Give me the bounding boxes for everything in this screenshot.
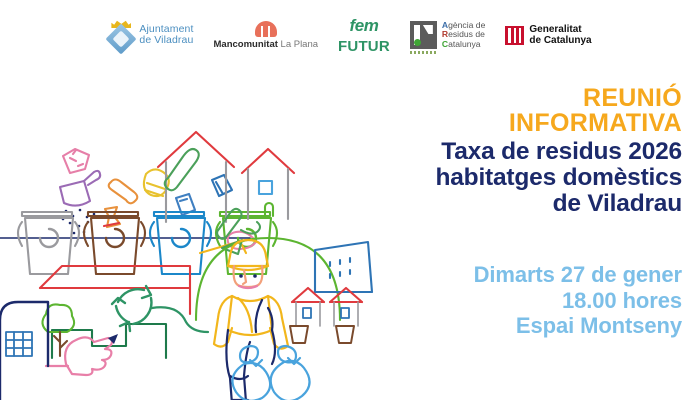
logo-bar: Ajuntament de Viladrau Mancomunitat La P… [0,0,700,70]
arc-line3: atalunya [448,39,481,49]
street-bins-brown [290,326,354,343]
logo-arc-text: Agència de Residus de Catalunya [442,21,486,49]
bin-brown [84,212,145,274]
house-row-windows [303,308,349,318]
fem-futur-line1: fem [349,17,378,34]
poster: Ajuntament de Viladrau Mancomunitat La P… [0,0,700,400]
house-small [242,149,294,219]
waste-item-bone [109,180,138,204]
small-blue-block [6,332,32,356]
illustration-waste-collection [0,70,420,400]
crown-shield-icon [108,20,134,50]
connector-line-green [152,307,208,332]
house-row-red [292,288,362,302]
logo-mancomunitat-la-plana: Mancomunitat La Plana [214,21,319,50]
waste-item-dustpan [60,171,100,206]
logo-generalitat-de-catalunya: Generalitat de Catalunya [505,24,591,46]
arch-mark-icon [255,21,277,37]
logo-fem-futur: fem FUTUR [338,17,390,54]
bin-blue [150,212,211,274]
bin-grey [18,212,79,274]
waste-item-carton [212,175,232,196]
senyera-bars-icon [505,26,524,45]
arc-square-icon [410,21,437,49]
fem-futur-line2: FUTUR [338,39,390,54]
logo-mancomunitat-text: Mancomunitat La Plana [214,39,319,50]
skyline-green [52,324,166,358]
navy-trail [0,302,48,400]
logo-ajuntament-de-viladrau: Ajuntament de Viladrau [108,20,193,50]
logo-agencia-residus-catalunya: Agència de Residus de Catalunya [410,21,486,49]
blue-building [315,242,372,292]
logo-viladrau-text: Ajuntament de Viladrau [139,24,193,47]
waste-item-wrapper [63,149,89,173]
pencil-tip [108,334,118,344]
hand-drawing [46,337,112,375]
logo-generalitat-text: Generalitat de Catalunya [529,24,591,46]
